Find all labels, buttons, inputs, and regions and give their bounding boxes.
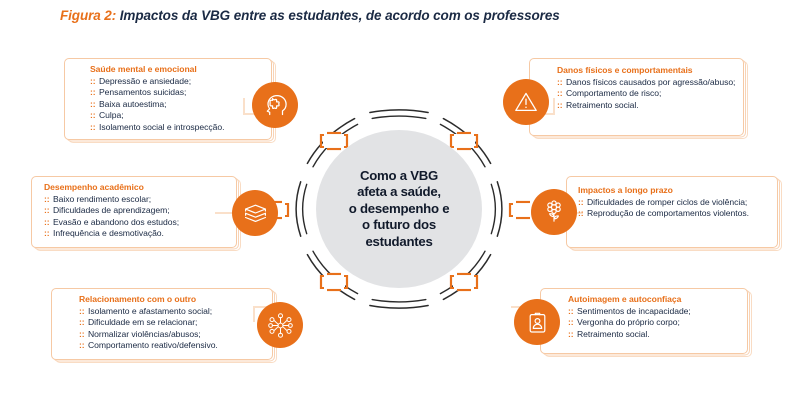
list-item-text: Dificuldades de aprendizagem;: [53, 205, 170, 215]
bullet-marker: ::: [79, 340, 85, 351]
bullet-marker: ::: [90, 122, 96, 133]
bullet-marker: ::: [578, 208, 584, 219]
card-list: ::Depressão e ansiedade; ::Pensamentos s…: [90, 76, 268, 133]
bullet-marker: ::: [90, 76, 96, 87]
card-heading: Saúde mental e emocional: [90, 64, 268, 75]
list-item: ::Sentimentos de incapacidade;: [568, 306, 743, 317]
list-item-text: Vergonha do próprio corpo;: [577, 317, 680, 327]
connector-top-right-v: [553, 98, 555, 114]
bullet-marker: ::: [44, 228, 50, 239]
list-item-text: Pensamentos suicidas;: [99, 87, 186, 97]
list-item: ::Reprodução de comportamentos violentos…: [578, 208, 764, 219]
figure-label: Figura 2:: [60, 8, 116, 23]
list-item: ::Dificuldade em se relacionar;: [79, 317, 267, 328]
list-item-text: Normalizar violências/abusos;: [88, 329, 201, 339]
bullet-marker: ::: [557, 77, 563, 88]
center-line: o desempenho e: [349, 201, 450, 217]
center-line: afeta a saúde,: [349, 184, 450, 200]
list-item-text: Culpa;: [99, 110, 124, 120]
card-impactos-longo-prazo[interactable]: Impactos a longo prazo ::Dificuldades de…: [566, 176, 778, 248]
list-item: ::Comportamento reativo/defensivo.: [79, 340, 267, 351]
list-item: ::Vergonha do próprio corpo;: [568, 317, 743, 328]
figure-title: Figura 2: Impactos da VBG entre as estud…: [60, 8, 560, 23]
list-item: ::Isolamento social e introspecção.: [90, 122, 268, 133]
center-question: Como a VBG afeta a saúde, o desempenho e…: [349, 168, 450, 250]
warning-triangle-icon: [503, 79, 549, 125]
center-line: Como a VBG: [349, 168, 450, 184]
bullet-marker: ::: [568, 306, 574, 317]
card-heading: Autoimagem e autoconfiaça: [568, 294, 743, 305]
center-line: estudantes: [349, 234, 450, 250]
list-item: ::Dificuldades de aprendizagem;: [44, 205, 222, 216]
list-item-text: Dificuldade em se relacionar;: [88, 317, 197, 327]
list-item: ::Culpa;: [90, 110, 268, 121]
list-item: ::Infrequência e desmotivação.: [44, 228, 222, 239]
list-item-text: Dificuldades de romper ciclos de violênc…: [587, 197, 747, 207]
head-brain-icon: [252, 82, 298, 128]
bullet-marker: ::: [79, 329, 85, 340]
card-relacionamento[interactable]: Relacionamento com o outro ::Isolamento …: [51, 288, 273, 360]
list-item-text: Baixo rendimento escolar;: [53, 194, 151, 204]
card-desempenho-academico[interactable]: Desempenho acadêmico ::Baixo rendimento …: [31, 176, 237, 248]
bullet-marker: ::: [90, 99, 96, 110]
bullet-marker: ::: [578, 197, 584, 208]
list-item: ::Isolamento e afastamento social;: [79, 306, 267, 317]
list-item: ::Dificuldades de romper ciclos de violê…: [578, 197, 764, 208]
list-item: ::Baixo rendimento escolar;: [44, 194, 222, 205]
list-item: ::Comportamento de risco;: [557, 88, 739, 99]
people-network-icon: [257, 302, 303, 348]
list-item-text: Infrequência e desmotivação.: [53, 228, 164, 238]
list-item-text: Isolamento e afastamento social;: [88, 306, 212, 316]
card-heading: Relacionamento com o outro: [79, 294, 267, 305]
bullet-marker: ::: [79, 306, 85, 317]
card-heading: Impactos a longo prazo: [578, 185, 764, 196]
bullet-marker: ::: [79, 317, 85, 328]
center-circle: Como a VBG afeta a saúde, o desempenho e…: [316, 130, 482, 288]
card-heading: Desempenho acadêmico: [44, 182, 222, 193]
list-item-text: Retraimento social.: [566, 100, 639, 110]
bullet-marker: ::: [557, 88, 563, 99]
card-autoimagem[interactable]: Autoimagem e autoconfiaça ::Sentimentos …: [540, 288, 748, 354]
card-list: ::Danos físicos causados por agressão/ab…: [557, 77, 739, 111]
list-item-text: Isolamento social e introspecção.: [99, 122, 224, 132]
card-heading: Danos físicos e comportamentais: [557, 65, 739, 76]
infographic-canvas: Figura 2: Impactos da VBG entre as estud…: [0, 0, 798, 404]
card-list: ::Baixo rendimento escolar; ::Dificuldad…: [44, 194, 222, 240]
bullet-marker: ::: [568, 317, 574, 328]
bullet-marker: ::: [44, 194, 50, 205]
list-item-text: Reprodução de comportamentos violentos.: [587, 208, 749, 218]
list-item: ::Danos físicos causados por agressão/ab…: [557, 77, 739, 88]
card-saude-mental[interactable]: Saúde mental e emocional ::Depressão e a…: [64, 58, 272, 140]
list-item-text: Retraimento social.: [577, 329, 650, 339]
card-list: ::Isolamento e afastamento social; ::Dif…: [79, 306, 267, 352]
list-item: ::Retraimento social.: [557, 100, 739, 111]
list-item: ::Retraimento social.: [568, 329, 743, 340]
card-list: ::Dificuldades de romper ciclos de violê…: [578, 197, 764, 220]
id-badge-person-icon: [514, 299, 560, 345]
figure-title-text: Impactos da VBG entre as estudantes, de …: [116, 8, 560, 23]
list-item: ::Baixa autoestima;: [90, 99, 268, 110]
bullet-marker: ::: [44, 205, 50, 216]
list-item-text: Evasão e abandono dos estudos;: [53, 217, 179, 227]
list-item: ::Normalizar violências/abusos;: [79, 329, 267, 340]
bullet-marker: ::: [90, 87, 96, 98]
books-stack-icon: [232, 190, 278, 236]
flower-plant-icon: [531, 189, 577, 235]
card-list: ::Sentimentos de incapacidade; ::Vergonh…: [568, 306, 743, 340]
list-item: ::Evasão e abandono dos estudos;: [44, 217, 222, 228]
list-item: ::Depressão e ansiedade;: [90, 76, 268, 87]
bullet-marker: ::: [90, 110, 96, 121]
bullet-marker: ::: [44, 217, 50, 228]
list-item-text: Comportamento reativo/defensivo.: [88, 340, 218, 350]
list-item-text: Sentimentos de incapacidade;: [577, 306, 691, 316]
bullet-marker: ::: [568, 329, 574, 340]
list-item-text: Depressão e ansiedade;: [99, 76, 191, 86]
bullet-marker: ::: [557, 100, 563, 111]
list-item-text: Danos físicos causados por agressão/abus…: [566, 77, 735, 87]
list-item-text: Comportamento de risco;: [566, 88, 661, 98]
list-item: ::Pensamentos suicidas;: [90, 87, 268, 98]
center-line: o futuro dos: [349, 217, 450, 233]
list-item-text: Baixa autoestima;: [99, 99, 166, 109]
card-danos-fisicos[interactable]: Danos físicos e comportamentais ::Danos …: [529, 58, 744, 136]
